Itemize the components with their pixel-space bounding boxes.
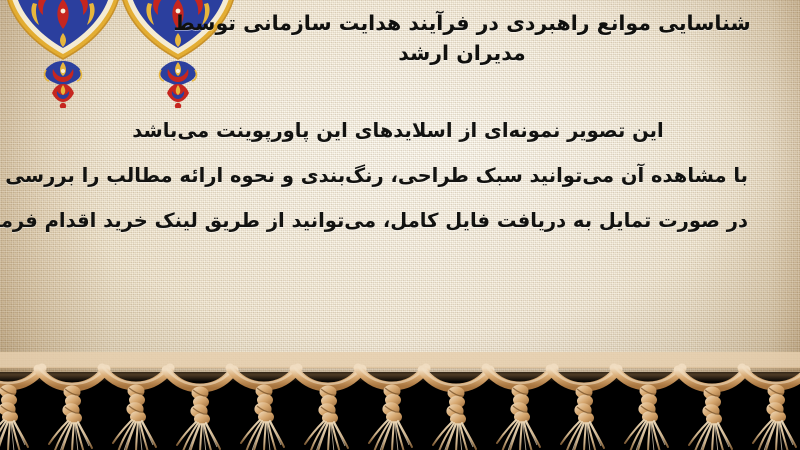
tassel-row	[0, 366, 800, 450]
slide-body: این تصویر نمونه‌ای از اسلایدهای این پاور…	[48, 108, 748, 243]
slide-title-line-2: مدیران ارشد	[142, 38, 782, 68]
presentation-slide: شناسایی موانع راهبردی در فرآیند هدایت سا…	[0, 0, 800, 450]
slide-body-line-3: در صورت تمایل به دریافت فایل کامل، می‌تو…	[48, 198, 748, 243]
carpet-fringe-tassels	[0, 352, 800, 450]
slide-text-layer: شناسایی موانع راهبردی در فرآیند هدایت سا…	[0, 0, 800, 378]
slide-body-line-1: این تصویر نمونه‌ای از اسلایدهای این پاور…	[48, 108, 748, 153]
slide-title-line-1: شناسایی موانع راهبردی در فرآیند هدایت سا…	[142, 8, 782, 38]
slide-title: شناسایی موانع راهبردی در فرآیند هدایت سا…	[142, 8, 782, 68]
slide-body-line-2: با مشاهده آن می‌توانید سبک طراحی، رنگ‌بن…	[48, 153, 748, 198]
